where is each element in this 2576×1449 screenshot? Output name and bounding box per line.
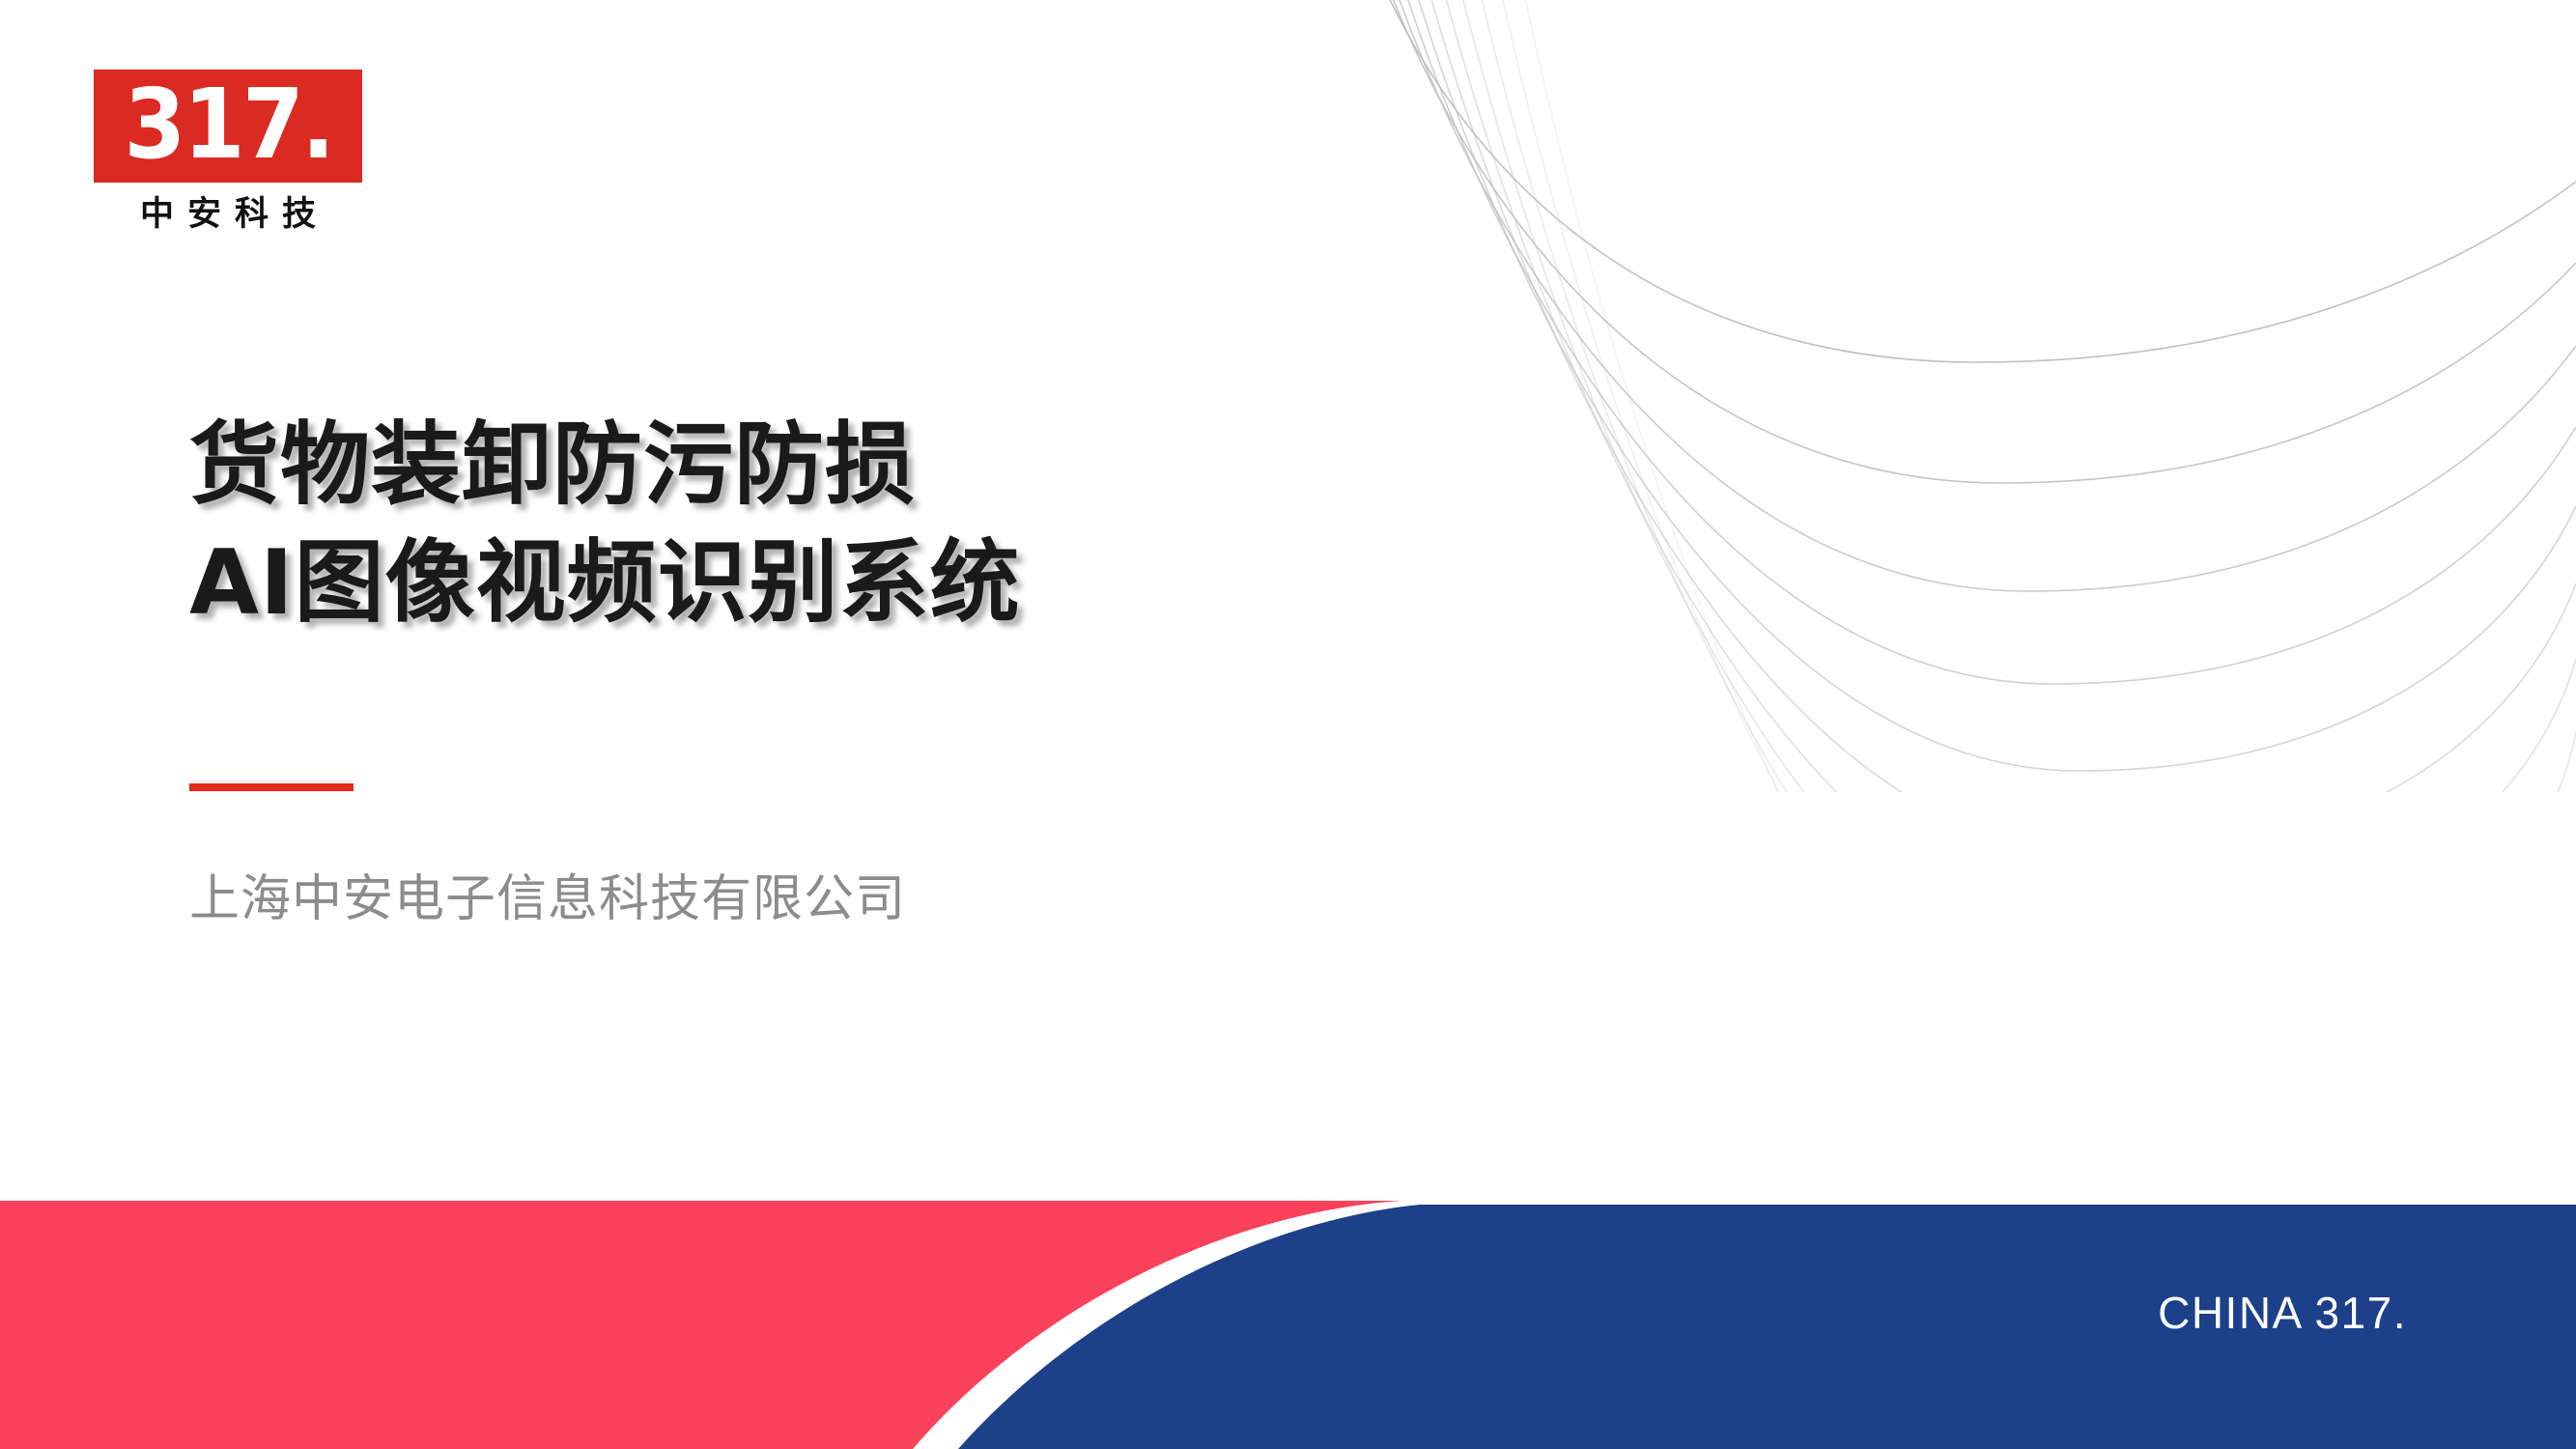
company-logo: 317. 中安科技 xyxy=(94,70,364,235)
deco-curve-10 xyxy=(1494,0,2576,792)
deco-curve-7 xyxy=(1436,0,2576,792)
footer-brand-label: CHINA 317. xyxy=(2158,1288,2407,1338)
deco-curve-9 xyxy=(1473,0,2576,792)
deco-curve-1 xyxy=(1373,0,2576,362)
deco-curve-11 xyxy=(1517,0,2576,792)
deco-curve-3 xyxy=(1386,0,2576,591)
company-name-subtitle: 上海中安电子信息科技有限公司 xyxy=(189,869,906,929)
page-title: 货物装卸防污防损 AI图像视频识别系统 xyxy=(189,406,1542,641)
deco-curve-8 xyxy=(1454,0,2576,792)
deco-curve-4 xyxy=(1396,0,2576,684)
logo-subtext: 中安科技 xyxy=(94,194,362,235)
curve-group xyxy=(1373,0,2576,792)
curved-line-fan-svg xyxy=(1359,0,2576,792)
title-underline-rule xyxy=(189,783,354,791)
deco-curve-6 xyxy=(1421,0,2576,792)
curved-line-fan-decoration xyxy=(1359,0,2576,792)
footer-band: CHINA 317. xyxy=(0,1201,2576,1449)
page-title-line-1: 货物装卸防污防损 xyxy=(189,406,1542,524)
page-title-line-2: AI图像视频识别系统 xyxy=(189,524,1542,641)
deco-curve-2 xyxy=(1378,0,2576,483)
logo-mark-box: 317. xyxy=(94,70,362,183)
slide-canvas: 317. 中安科技 货物装卸防污防损 AI图像视频识别系统 上海中安电子信息科技… xyxy=(0,0,2576,1449)
logo-mark-text: 317. xyxy=(124,76,332,177)
deco-curve-5 xyxy=(1407,0,2576,771)
